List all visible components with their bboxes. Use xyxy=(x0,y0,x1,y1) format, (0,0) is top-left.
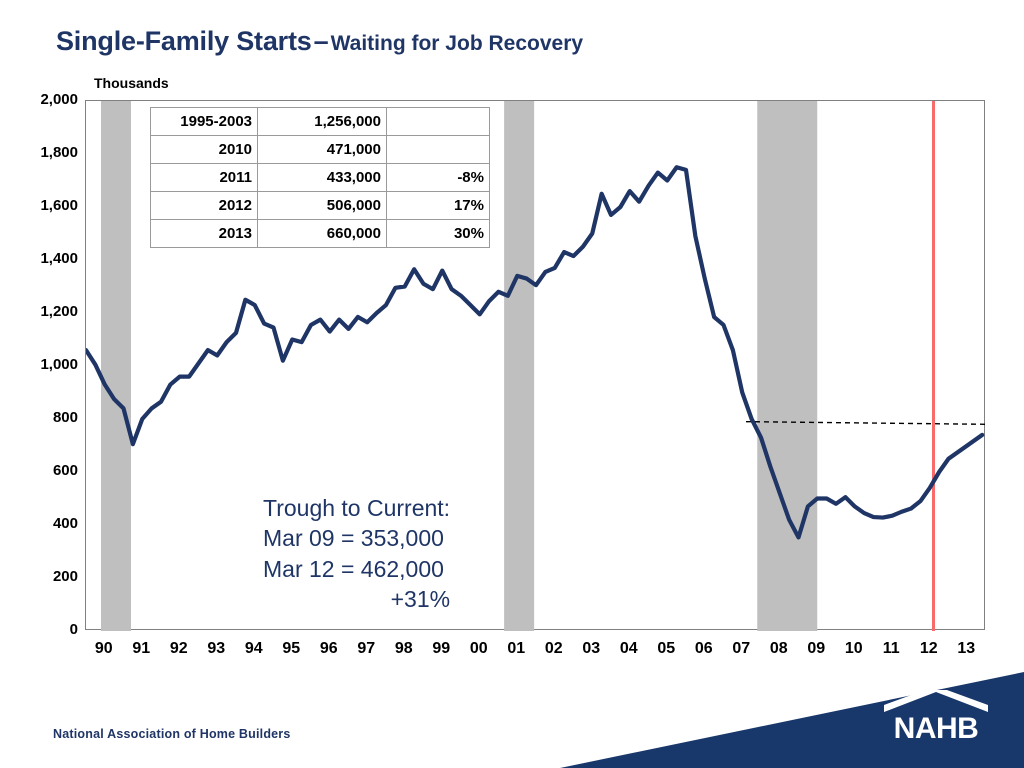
x-axis-tick-label: 01 xyxy=(496,640,536,658)
roof-icon xyxy=(876,690,996,714)
x-axis-tick-label: 92 xyxy=(159,640,199,658)
table-row: 2010471,000 xyxy=(151,136,490,164)
table-cell-period: 2012 xyxy=(151,192,258,220)
page-title-main: Single-Family Starts xyxy=(56,26,312,56)
table-row: 2011433,000-8% xyxy=(151,164,490,192)
y-axis-tick-label: 0 xyxy=(8,622,78,637)
y-axis-tick-label: 800 xyxy=(8,410,78,425)
table-cell-period: 2010 xyxy=(151,136,258,164)
x-axis-tick-label: 02 xyxy=(534,640,574,658)
x-axis-tick-label: 08 xyxy=(759,640,799,658)
x-axis-tick-label: 12 xyxy=(909,640,949,658)
x-axis-tick-label: 97 xyxy=(346,640,386,658)
table-cell-value: 1,256,000 xyxy=(258,108,387,136)
y-axis: 02004006008001,0001,2001,4001,6001,8002,… xyxy=(0,100,78,630)
x-axis: 9091929394959697989900010203040506070809… xyxy=(85,640,985,666)
table-cell-period: 2011 xyxy=(151,164,258,192)
annotation-line-2: Mar 09 = 353,000 xyxy=(263,523,450,553)
x-axis-tick-label: 93 xyxy=(196,640,236,658)
footer-organization-name: National Association of Home Builders xyxy=(53,727,291,741)
y-axis-tick-label: 1,400 xyxy=(8,251,78,266)
table-cell-change xyxy=(387,108,490,136)
table-cell-value: 506,000 xyxy=(258,192,387,220)
x-axis-tick-label: 94 xyxy=(234,640,274,658)
table-cell-change: 30% xyxy=(387,220,490,248)
x-axis-tick-label: 07 xyxy=(721,640,761,658)
x-axis-tick-label: 11 xyxy=(871,640,911,658)
recession-band xyxy=(757,101,817,631)
page-title-dash: – xyxy=(312,26,331,56)
table-cell-change xyxy=(387,136,490,164)
table-row: 2012506,00017% xyxy=(151,192,490,220)
nahb-wordmark: NAHB xyxy=(876,712,996,746)
y-axis-tick-label: 1,800 xyxy=(8,145,78,160)
chart-units-label: Thousands xyxy=(94,75,169,91)
table-cell-change: -8% xyxy=(387,164,490,192)
annotation-line-1: Trough to Current: xyxy=(263,493,450,523)
table-cell-value: 660,000 xyxy=(258,220,387,248)
x-axis-tick-label: 13 xyxy=(946,640,986,658)
table-row: 1995-20031,256,000 xyxy=(151,108,490,136)
x-axis-tick-label: 10 xyxy=(834,640,874,658)
nahb-logo: NAHB xyxy=(876,690,996,752)
table-cell-period: 2013 xyxy=(151,220,258,248)
recession-band xyxy=(504,101,534,631)
y-axis-tick-label: 2,000 xyxy=(8,92,78,107)
x-axis-tick-label: 98 xyxy=(384,640,424,658)
x-axis-tick-label: 90 xyxy=(84,640,124,658)
x-axis-tick-label: 91 xyxy=(121,640,161,658)
x-axis-tick-label: 06 xyxy=(684,640,724,658)
table-cell-value: 433,000 xyxy=(258,164,387,192)
page-title: Single-Family Starts–Waiting for Job Rec… xyxy=(56,26,583,57)
page-title-sub: Waiting for Job Recovery xyxy=(331,32,583,55)
x-axis-tick-label: 99 xyxy=(421,640,461,658)
x-axis-tick-label: 96 xyxy=(309,640,349,658)
x-axis-tick-label: 09 xyxy=(796,640,836,658)
annotation-line-4: +31% xyxy=(263,584,450,614)
table-cell-value: 471,000 xyxy=(258,136,387,164)
trough-to-current-annotation: Trough to Current: Mar 09 = 353,000 Mar … xyxy=(263,493,450,614)
footer-wedge-shape xyxy=(0,660,1024,768)
table-cell-change: 17% xyxy=(387,192,490,220)
x-axis-tick-label: 00 xyxy=(459,640,499,658)
table-cell-period: 1995-2003 xyxy=(151,108,258,136)
x-axis-tick-label: 04 xyxy=(609,640,649,658)
y-axis-tick-label: 600 xyxy=(8,463,78,478)
table-row: 2013660,00030% xyxy=(151,220,490,248)
summary-table: 1995-20031,256,0002010471,0002011433,000… xyxy=(150,107,490,248)
y-axis-tick-label: 400 xyxy=(8,516,78,531)
x-axis-tick-label: 05 xyxy=(646,640,686,658)
y-axis-tick-label: 1,600 xyxy=(8,198,78,213)
y-axis-tick-label: 1,200 xyxy=(8,304,78,319)
x-axis-tick-label: 95 xyxy=(271,640,311,658)
annotation-line-3: Mar 12 = 462,000 xyxy=(263,554,450,584)
y-axis-tick-label: 1,000 xyxy=(8,357,78,372)
x-axis-tick-label: 03 xyxy=(571,640,611,658)
recession-band xyxy=(101,101,131,631)
y-axis-tick-label: 200 xyxy=(8,569,78,584)
